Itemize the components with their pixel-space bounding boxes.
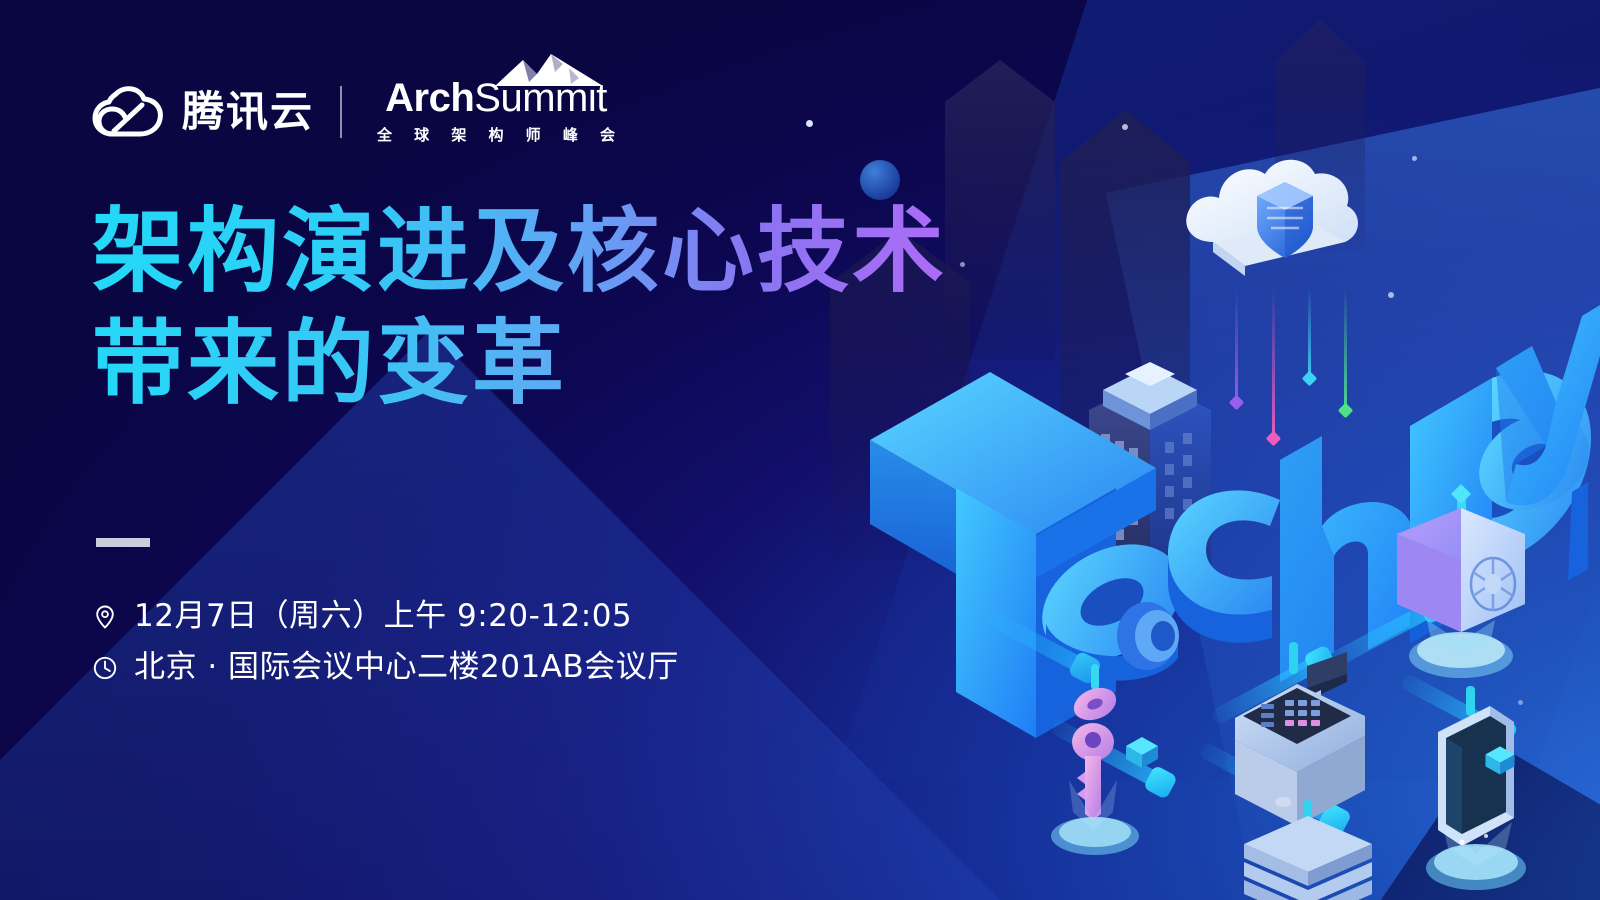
tencent-cloud-wordmark: 腾讯云 bbox=[182, 91, 314, 133]
headline-line-2: 带来的变革 bbox=[92, 308, 947, 420]
floating-cube-icon bbox=[1120, 730, 1164, 774]
mountain-peaks-icon bbox=[493, 52, 605, 86]
event-date-text: 12月7日（周六）上午 9:20-12:05 bbox=[134, 598, 632, 635]
logo-divider bbox=[340, 86, 342, 138]
smartphone-icon bbox=[1380, 680, 1560, 900]
cloud-logo-icon bbox=[92, 83, 166, 141]
event-banner: 腾讯云 ArchSummit 全 球 架 构 师 峰 会 架构演进及核心技术 带… bbox=[0, 0, 1600, 900]
event-date-row: 12月7日（周六）上午 9:20-12:05 bbox=[92, 598, 679, 635]
speaker-icon bbox=[1095, 580, 1205, 690]
event-details: 12月7日（周六）上午 9:20-12:05 北京 · 国际会议中心二楼201A… bbox=[92, 598, 679, 686]
archsummit-subtitle: 全 球 架 构 师 峰 会 bbox=[368, 124, 624, 145]
headline-line-1: 架构演进及核心技术 bbox=[92, 196, 947, 308]
event-venue-text: 北京 · 国际会议中心二楼201AB会议厅 bbox=[134, 649, 679, 686]
tencent-cloud-logo: 腾讯云 bbox=[92, 83, 314, 141]
server-stack-icon bbox=[1220, 800, 1400, 900]
title-rule-divider bbox=[96, 538, 150, 547]
clock-icon bbox=[92, 655, 118, 681]
particle-dot bbox=[806, 120, 813, 127]
page-title: 架构演进及核心技术 带来的变革 bbox=[92, 196, 947, 420]
brand-header: 腾讯云 ArchSummit 全 球 架 构 师 峰 会 bbox=[92, 78, 624, 145]
location-pin-icon bbox=[92, 604, 118, 630]
floating-cube-icon bbox=[1480, 740, 1520, 780]
archsummit-logo: ArchSummit 全 球 架 构 师 峰 会 bbox=[368, 78, 624, 145]
event-venue-row: 北京 · 国际会议中心二楼201AB会议厅 bbox=[92, 649, 679, 686]
isometric-illustration bbox=[820, 40, 1600, 900]
archsummit-wordmark-row: ArchSummit bbox=[385, 78, 607, 118]
